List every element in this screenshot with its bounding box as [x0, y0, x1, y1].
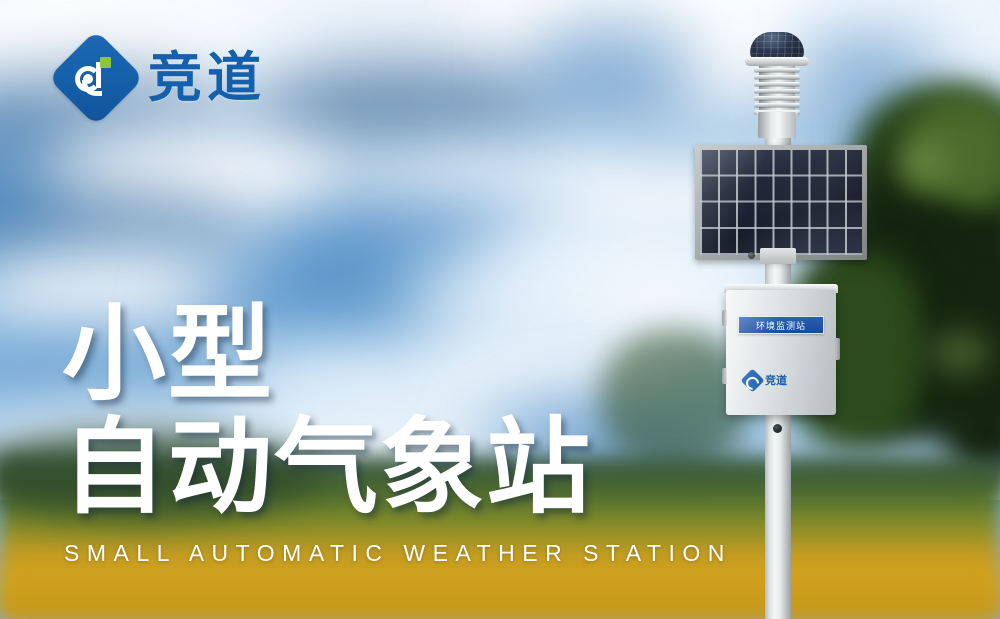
pole-bolt-icon [773, 424, 782, 433]
sensor-neck [758, 112, 796, 138]
brand-name: 竞道 [148, 51, 266, 105]
logo-monogram [62, 44, 130, 112]
sensor-rim [745, 57, 809, 66]
headline-line-2: 自动气象站 [62, 413, 712, 522]
logo-j-hook-icon [82, 80, 102, 96]
headline-subtitle: SMALL AUTOMATIC WEATHER STATION [64, 540, 732, 567]
jingdao-diamond-logo-icon [48, 30, 144, 126]
sensor-dome-icon [750, 32, 804, 60]
control-box: 环境监测站 竞道 [726, 290, 836, 415]
box-hinge-icon [722, 310, 727, 326]
box-latch-icon [834, 338, 840, 360]
weather-station-product: 环境监测站 竞道 [690, 20, 890, 619]
control-box-brand: 竞道 [744, 370, 818, 390]
shield-fin [754, 82, 800, 86]
logo-green-square-icon [100, 57, 111, 68]
shield-fin [754, 75, 800, 79]
box-hinge-icon [722, 368, 727, 384]
brand-logo[interactable]: 竞道 [62, 44, 266, 112]
shield-fin [754, 103, 800, 107]
panel-bolt-icon [748, 252, 755, 259]
solar-panel-cells [700, 150, 862, 255]
panel-bracket [760, 248, 796, 264]
solar-panel-icon [695, 145, 867, 260]
control-box-brand-name: 竞道 [765, 372, 787, 388]
shield-fin [754, 96, 800, 100]
product-banner: 环境监测站 竞道 竞道 小型 自动气象站 SMALL AUTOMATIC WEA… [0, 0, 1000, 619]
solar-panel-frame [695, 145, 867, 260]
headline-block: 小型 自动气象站 [62, 300, 712, 522]
shield-fin [754, 68, 800, 72]
shield-fin [754, 89, 800, 93]
radiation-shield-icon [754, 66, 800, 114]
control-box-label: 环境监测站 [738, 316, 824, 334]
jingdao-diamond-logo-icon [740, 368, 764, 392]
ultrasonic-weather-sensor-icon [738, 30, 816, 140]
headline-line-1: 小型 [62, 300, 712, 409]
box-gloss [726, 290, 836, 415]
